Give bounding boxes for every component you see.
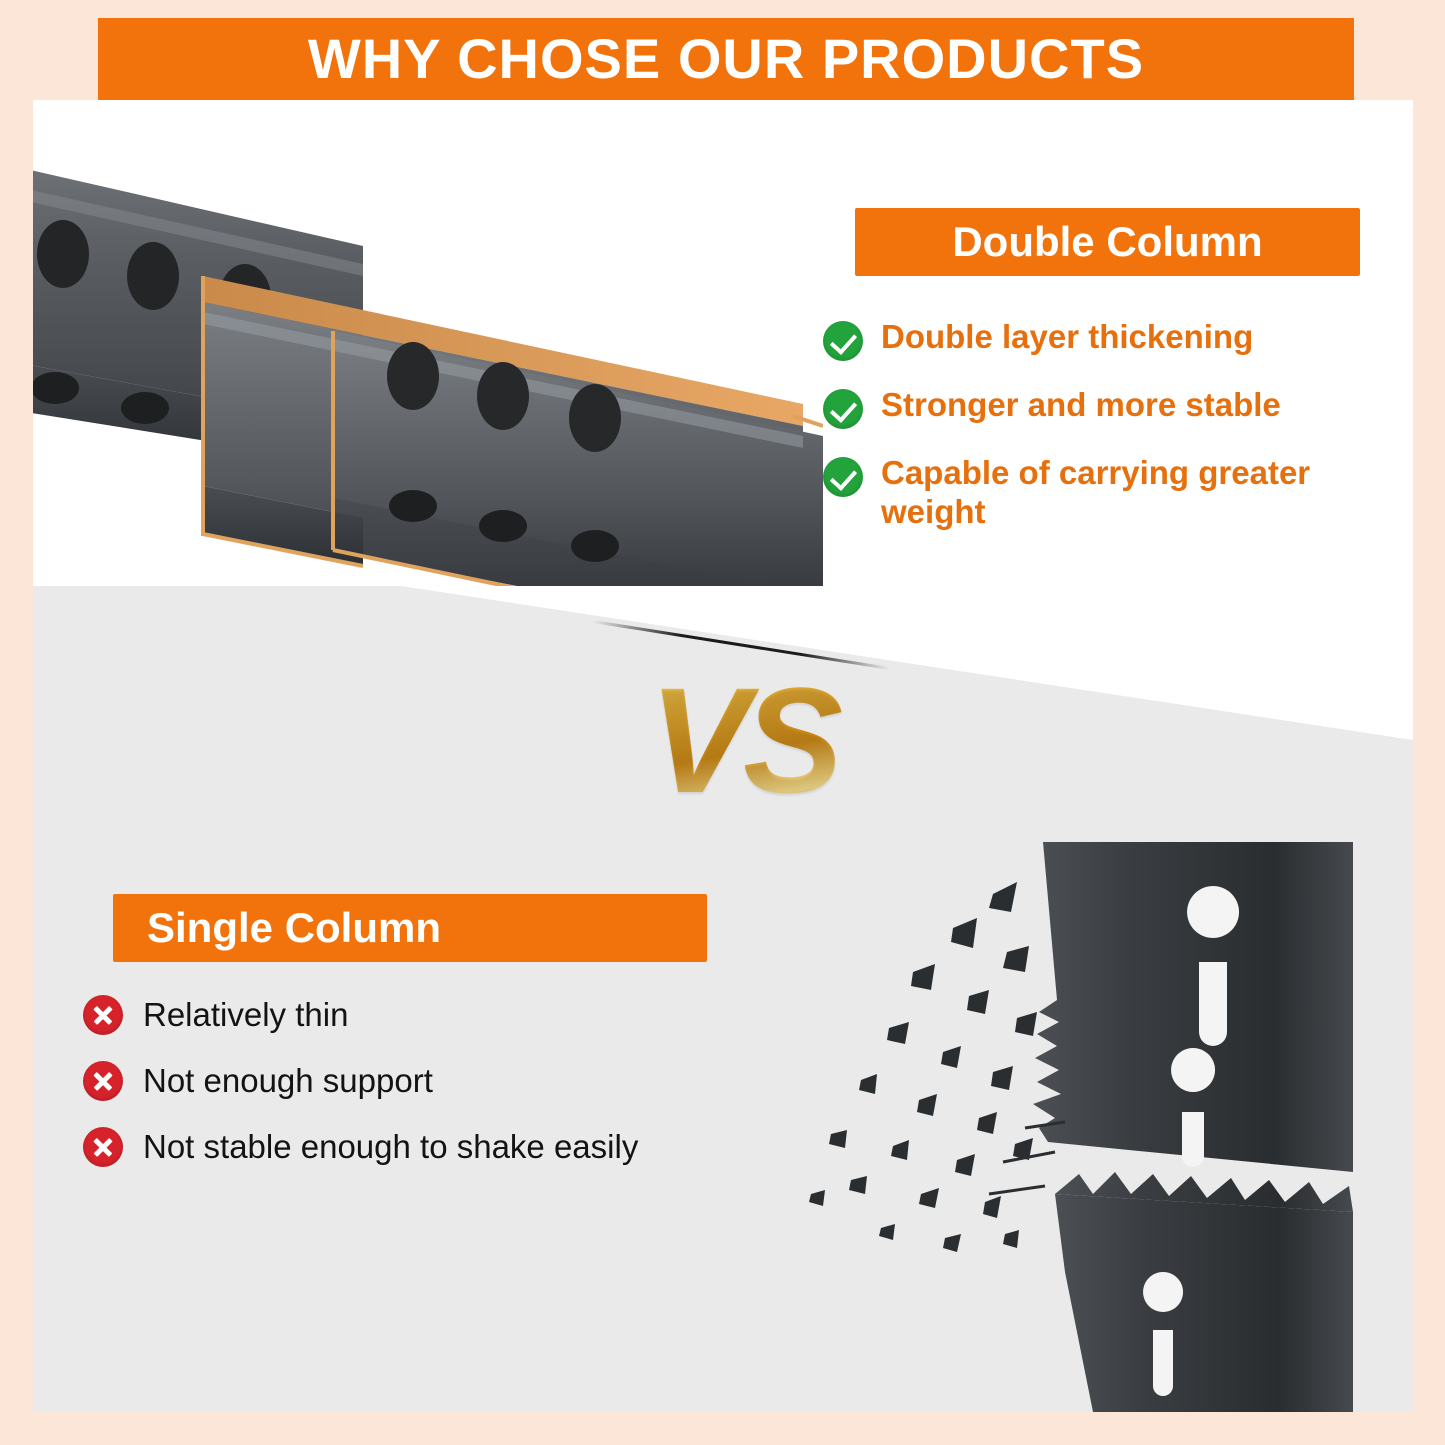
cross-circle-icon (83, 995, 123, 1035)
list-item: Not stable enough to shake easily (83, 1127, 863, 1167)
con-text: Relatively thin (143, 996, 348, 1034)
list-item: Relatively thin (83, 995, 863, 1035)
check-circle-icon (823, 389, 863, 429)
pro-text: Double layer thickening (881, 318, 1253, 357)
page-title: WHY CHOSE OUR PRODUCTS (308, 31, 1144, 87)
broken-single-column-rail-photo (793, 842, 1413, 1412)
list-item: Stronger and more stable (823, 386, 1383, 429)
list-item: Double layer thickening (823, 318, 1383, 361)
list-item: Not enough support (83, 1061, 863, 1101)
pros-list: Double layer thickening Stronger and mor… (823, 318, 1383, 557)
header-banner: WHY CHOSE OUR PRODUCTS (98, 18, 1354, 100)
cross-circle-icon (83, 1127, 123, 1167)
single-column-chip-label: Single Column (147, 907, 441, 949)
check-circle-icon (823, 457, 863, 497)
con-text: Not enough support (143, 1062, 433, 1100)
list-item: Capable of carrying greater weight (823, 454, 1383, 532)
content-card: Double Column Double layer thickening St… (33, 100, 1413, 1412)
cons-list: Relatively thin Not enough support Not s… (83, 995, 863, 1193)
check-circle-icon (823, 321, 863, 361)
pro-text: Stronger and more stable (881, 386, 1281, 425)
vs-emblem: VS (633, 640, 853, 840)
double-column-rail-photo (33, 126, 823, 586)
single-column-chip: Single Column (113, 894, 707, 962)
product-comparison-infographic: WHY CHOSE OUR PRODUCTS (0, 0, 1445, 1445)
double-column-chip: Double Column (855, 208, 1360, 276)
cross-circle-icon (83, 1061, 123, 1101)
pro-text: Capable of carrying greater weight (881, 454, 1381, 532)
con-text: Not stable enough to shake easily (143, 1128, 638, 1166)
double-column-chip-label: Double Column (952, 221, 1262, 263)
